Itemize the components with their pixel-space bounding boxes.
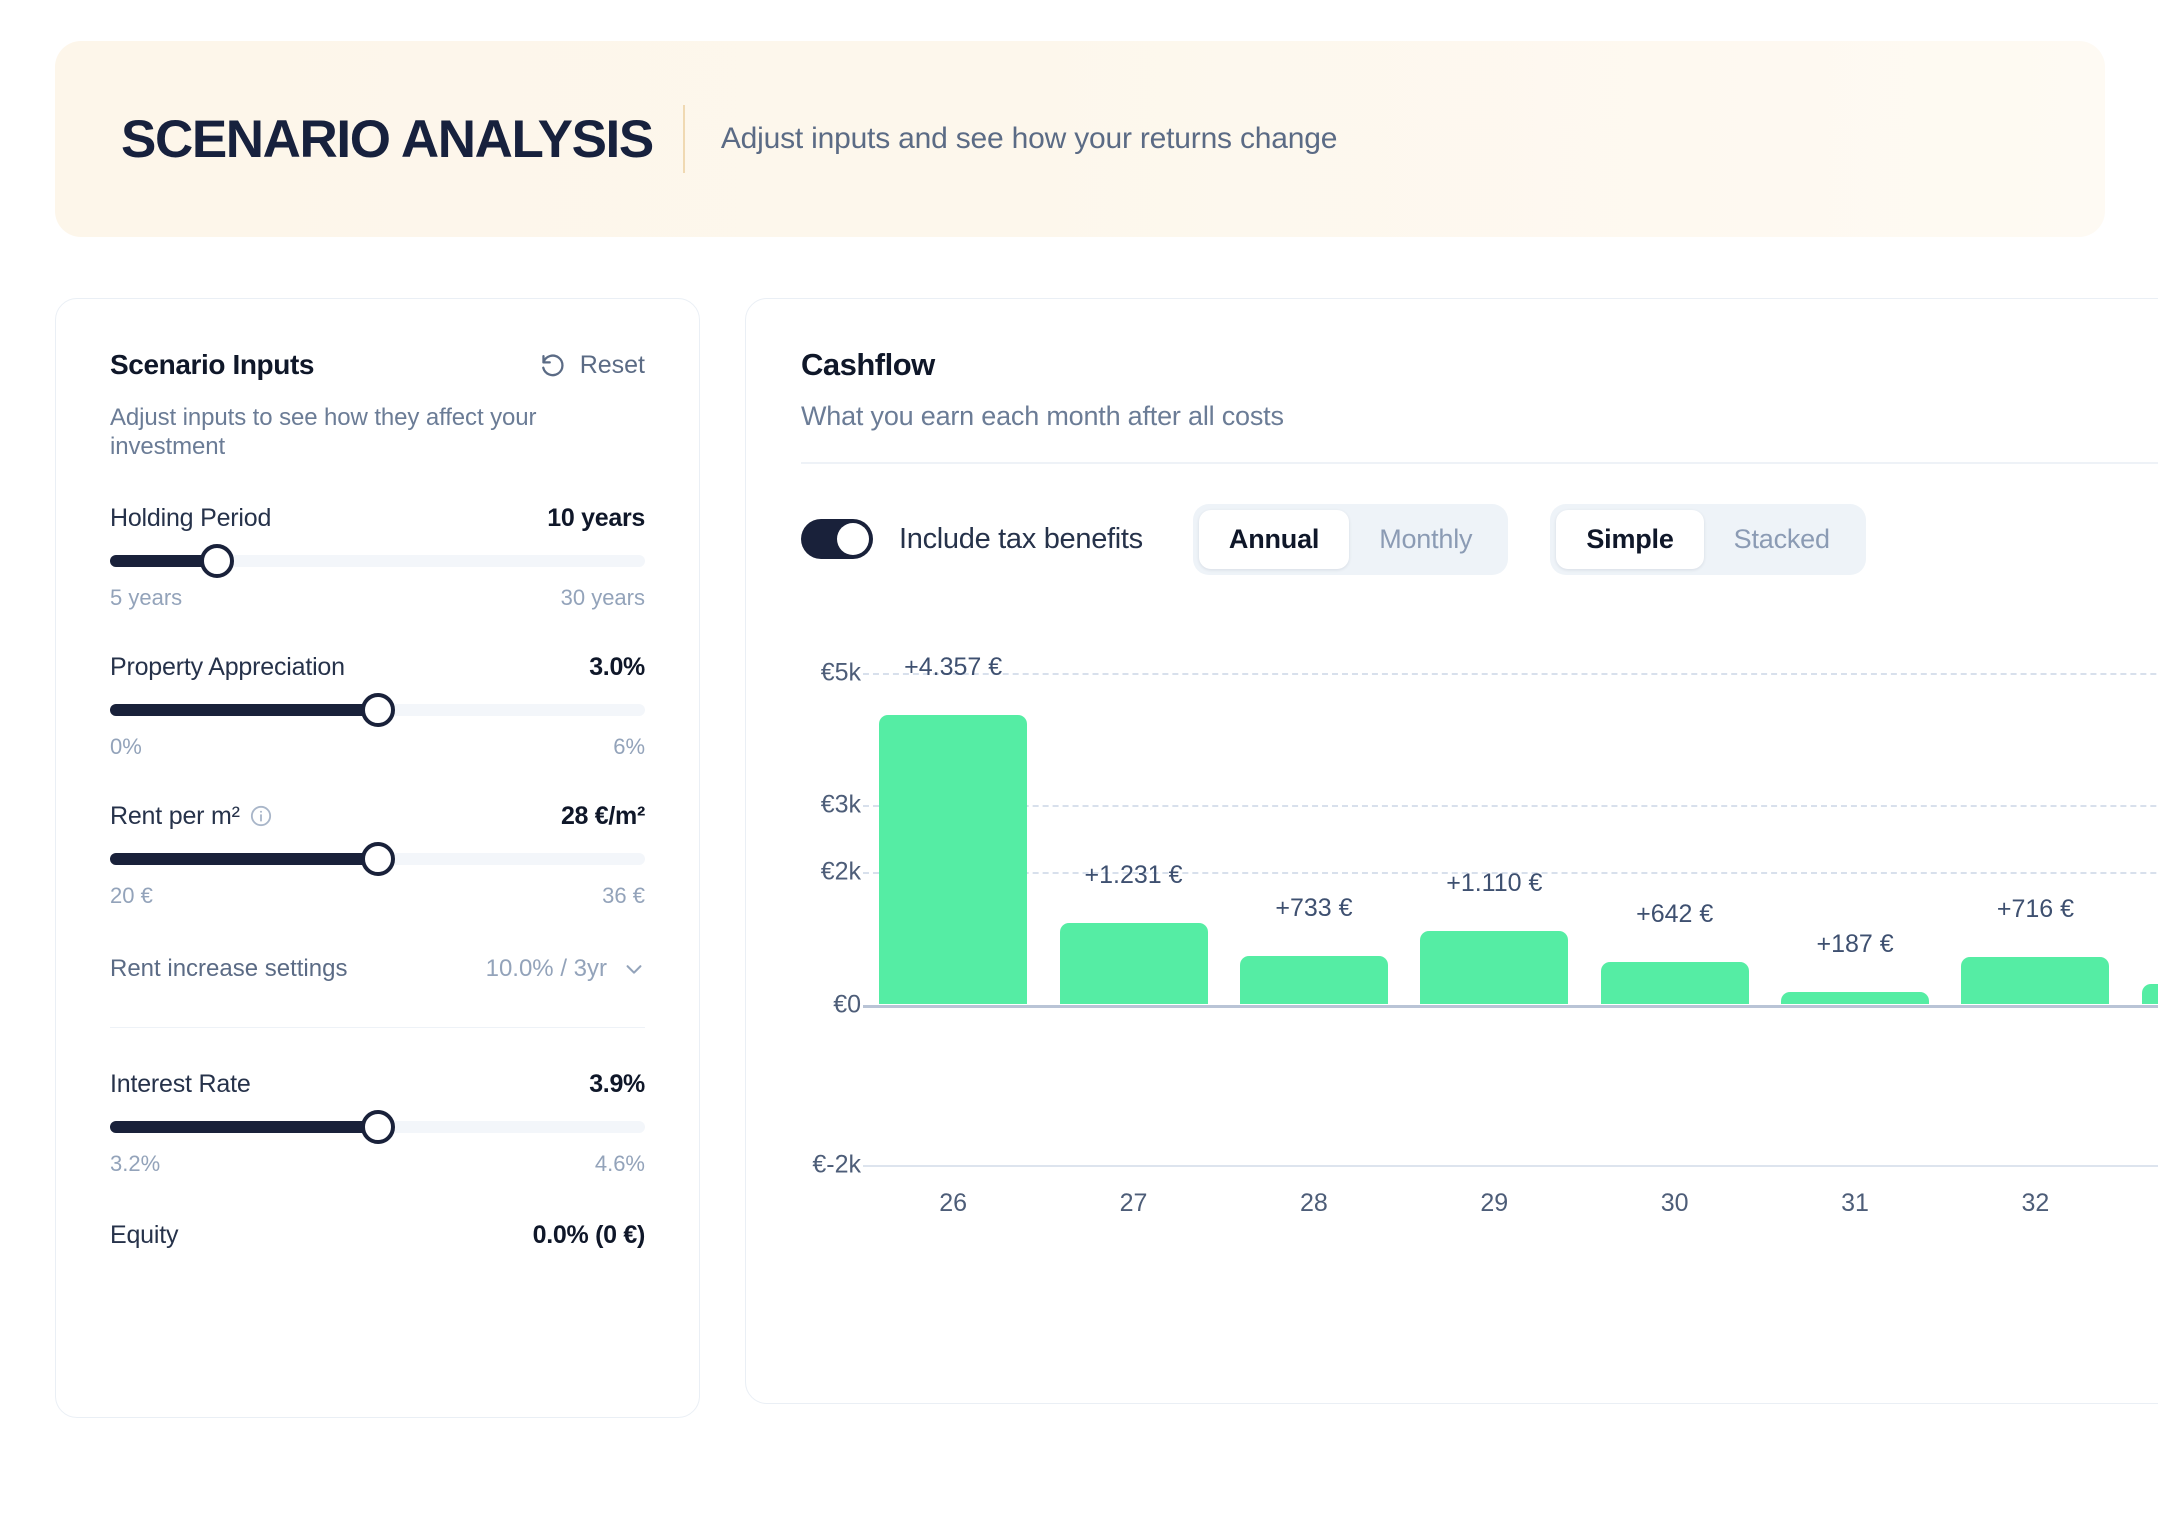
scenario-inputs-header: Scenario Inputs Reset: [110, 349, 645, 381]
x-axis-tick-label: 27: [1120, 1189, 1148, 1218]
slider-holding-period: Holding Period 10 years 5 years 30 years: [110, 504, 645, 611]
bar[interactable]: [1240, 956, 1388, 1005]
bar[interactable]: [1781, 992, 1929, 1004]
y-axis-tick-label: €3k: [745, 791, 861, 820]
bar[interactable]: [1961, 957, 2109, 1005]
slider-max-label: 4.6%: [595, 1151, 645, 1177]
equity-value: 0.0% (0 €): [533, 1221, 645, 1250]
bar-group: +716 €32: [1945, 605, 2125, 1285]
reset-label: Reset: [580, 351, 645, 380]
bar-value-label: +642 €: [1610, 900, 1740, 929]
info-icon[interactable]: [250, 805, 272, 827]
bar-group: +187 €31: [1765, 605, 1945, 1285]
scenario-inputs-description: Adjust inputs to see how they affect you…: [110, 403, 640, 462]
rent-increase-settings-row[interactable]: Rent increase settings 10.0% / 3yr: [110, 955, 645, 983]
x-axis-tick-label: 29: [1480, 1189, 1508, 1218]
slider-interest-rate: Interest Rate 3.9% 3.2% 4.6%: [110, 1070, 645, 1177]
bar-group: +1.231 €27: [1043, 605, 1223, 1285]
slider-track[interactable]: [110, 555, 645, 567]
chevron-down-icon: [623, 958, 645, 980]
slider-label: Rent per m²: [110, 802, 272, 831]
slider-min-label: 0%: [110, 734, 142, 760]
slider-value: 28 €/m²: [561, 802, 645, 831]
page-title: SCENARIO ANALYSIS: [121, 113, 653, 166]
slider-track[interactable]: [110, 704, 645, 716]
toggle-knob: [837, 523, 869, 555]
rent-increase-value: 10.0% / 3yr: [486, 955, 607, 983]
y-axis-tick-label: €-2k: [745, 1150, 861, 1179]
page-header-banner: SCENARIO ANALYSIS Adjust inputs and see …: [55, 41, 2105, 237]
bar-series: +4.357 €26+1.231 €27+733 €28+1.110 €29+6…: [863, 605, 2158, 1285]
reset-button[interactable]: Reset: [540, 351, 645, 380]
slider-max-label: 30 years: [561, 585, 645, 611]
header-divider: [683, 105, 685, 173]
slider-max-label: 6%: [613, 734, 645, 760]
bar-group: +733 €28: [1224, 605, 1404, 1285]
bar[interactable]: [2142, 984, 2158, 1004]
slider-label: Holding Period: [110, 504, 271, 533]
slider-value: 10 years: [547, 504, 645, 533]
slider-label-text: Holding Period: [110, 504, 271, 533]
slider-rent-per-sqm: Rent per m² 28 €/m²: [110, 802, 645, 909]
slider-value: 3.9%: [589, 1070, 645, 1099]
bar-group: +642 €30: [1585, 605, 1765, 1285]
tab-annual[interactable]: Annual: [1199, 510, 1349, 569]
slider-label: Property Appreciation: [110, 653, 345, 682]
bar[interactable]: [1060, 923, 1208, 1005]
slider-label-text: Interest Rate: [110, 1070, 251, 1099]
x-axis-tick-label: 32: [2022, 1189, 2050, 1218]
include-tax-benefits-label: Include tax benefits: [899, 523, 1143, 556]
bar-value-label: +716 €: [1970, 895, 2100, 924]
bar-group: +308 €33: [2126, 605, 2158, 1285]
style-segmented-control: Simple Stacked: [1550, 504, 1866, 575]
equity-label: Equity: [110, 1221, 178, 1250]
bar[interactable]: [1420, 931, 1568, 1005]
cashflow-subtitle: What you earn each month after all costs: [801, 401, 2158, 432]
bar[interactable]: [1601, 962, 1749, 1005]
slider-value: 3.0%: [589, 653, 645, 682]
slider-min-label: 3.2%: [110, 1151, 160, 1177]
bar-value-label: +308 €: [2151, 922, 2158, 951]
period-segmented-control: Annual Monthly: [1193, 504, 1508, 575]
slider-property-appreciation: Property Appreciation 3.0% 0% 6%: [110, 653, 645, 760]
slider-label-text: Rent per m²: [110, 802, 240, 831]
x-axis-tick-label: 30: [1661, 1189, 1689, 1218]
slider-thumb[interactable]: [361, 842, 395, 876]
bar-value-label: +4.357 €: [888, 653, 1018, 682]
x-axis-tick-label: 28: [1300, 1189, 1328, 1218]
y-axis-tick-label: €2k: [745, 857, 861, 886]
page-subtitle: Adjust inputs and see how your returns c…: [721, 122, 1337, 156]
equity-row: Equity 0.0% (0 €): [110, 1221, 645, 1250]
tab-monthly[interactable]: Monthly: [1349, 510, 1502, 569]
bar-group: +4.357 €26: [863, 605, 1043, 1285]
slider-fill: [110, 1121, 378, 1133]
bar-value-label: +187 €: [1790, 930, 1920, 959]
slider-fill: [110, 704, 378, 716]
section-divider: [110, 1027, 645, 1029]
reset-icon: [540, 352, 566, 378]
cashflow-controls: Include tax benefits Annual Monthly Simp…: [801, 504, 2158, 575]
bar[interactable]: [879, 715, 1027, 1004]
cashflow-chart: €5k€3k€2k€0€-2k+4.357 €26+1.231 €27+733 …: [801, 605, 2158, 1285]
cashflow-card: Cashflow What you earn each month after …: [745, 298, 2158, 1404]
slider-min-label: 5 years: [110, 585, 182, 611]
slider-thumb[interactable]: [361, 1110, 395, 1144]
scenario-inputs-title: Scenario Inputs: [110, 349, 314, 381]
app-root: SCENARIO ANALYSIS Adjust inputs and see …: [0, 0, 2158, 1534]
include-tax-benefits-toggle[interactable]: [801, 519, 873, 559]
x-axis-tick-label: 26: [939, 1189, 967, 1218]
slider-thumb[interactable]: [200, 544, 234, 578]
bar-group: +1.110 €29: [1404, 605, 1584, 1285]
cashflow-title: Cashflow: [801, 347, 2158, 383]
slider-max-label: 36 €: [602, 883, 645, 909]
slider-track[interactable]: [110, 853, 645, 865]
bar-value-label: +1.110 €: [1429, 869, 1559, 898]
slider-min-label: 20 €: [110, 883, 153, 909]
bar-value-label: +733 €: [1249, 894, 1379, 923]
rent-increase-label: Rent increase settings: [110, 955, 347, 983]
tab-simple[interactable]: Simple: [1556, 510, 1703, 569]
bar-value-label: +1.231 €: [1069, 861, 1199, 890]
slider-track[interactable]: [110, 1121, 645, 1133]
scenario-inputs-card: Scenario Inputs Reset Adjust inputs to s…: [55, 298, 700, 1418]
cashflow-divider: [801, 462, 2158, 464]
tab-stacked[interactable]: Stacked: [1704, 510, 1860, 569]
slider-label-text: Property Appreciation: [110, 653, 345, 682]
x-axis-tick-label: 31: [1841, 1189, 1869, 1218]
slider-label: Interest Rate: [110, 1070, 251, 1099]
slider-thumb[interactable]: [361, 693, 395, 727]
y-axis-tick-label: €5k: [745, 658, 861, 687]
y-axis-tick-label: €0: [745, 990, 861, 1019]
slider-fill: [110, 853, 378, 865]
